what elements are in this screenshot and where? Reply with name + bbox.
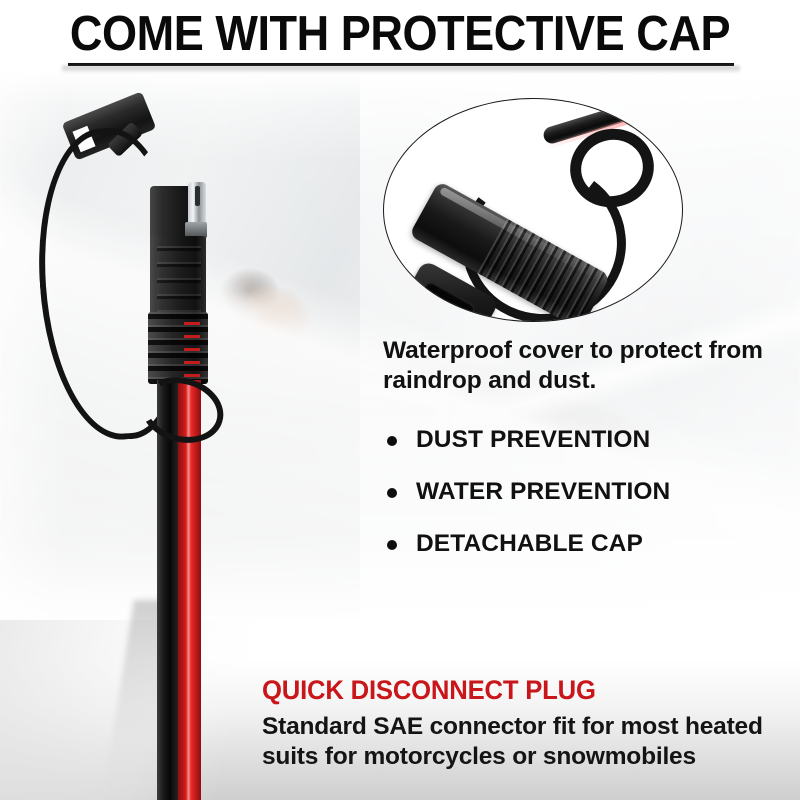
- feature-bullet-water: WATER PREVENTION: [380, 477, 790, 507]
- callout-cap-opening: [418, 280, 476, 322]
- bottom-section-title: QUICK DISCONNECT PLUG: [262, 674, 596, 706]
- feature-bullet-detachable: DETACHABLE CAP: [380, 529, 790, 559]
- bullet-dot-icon: [387, 488, 397, 498]
- cap-closeup-callout: [383, 98, 683, 322]
- feature-bullet-list: DUST PREVENTION WATER PREVENTION DETACHA…: [380, 425, 790, 581]
- feature-bullet-label: WATER PREVENTION: [416, 478, 670, 505]
- connector-pin-slot: [195, 186, 200, 206]
- product-feature-image: COME WITH PROTECTIVE CAP: [0, 0, 800, 800]
- bottom-section-body: Standard SAE connector fit for most heat…: [262, 712, 792, 772]
- connector-red-wire-glimpse: [184, 318, 200, 378]
- bullet-dot-icon: [387, 540, 397, 550]
- feature-bullet-dust: DUST PREVENTION: [380, 425, 790, 455]
- bullet-dot-icon: [387, 436, 397, 446]
- feature-bullet-label: DUST PREVENTION: [416, 426, 650, 453]
- feature-lede-text: Waterproof cover to protect from raindro…: [383, 336, 783, 396]
- callout-artwork: [384, 99, 682, 321]
- feature-bullet-label: DETACHABLE CAP: [416, 530, 643, 557]
- cable-black-conductor: [157, 380, 178, 800]
